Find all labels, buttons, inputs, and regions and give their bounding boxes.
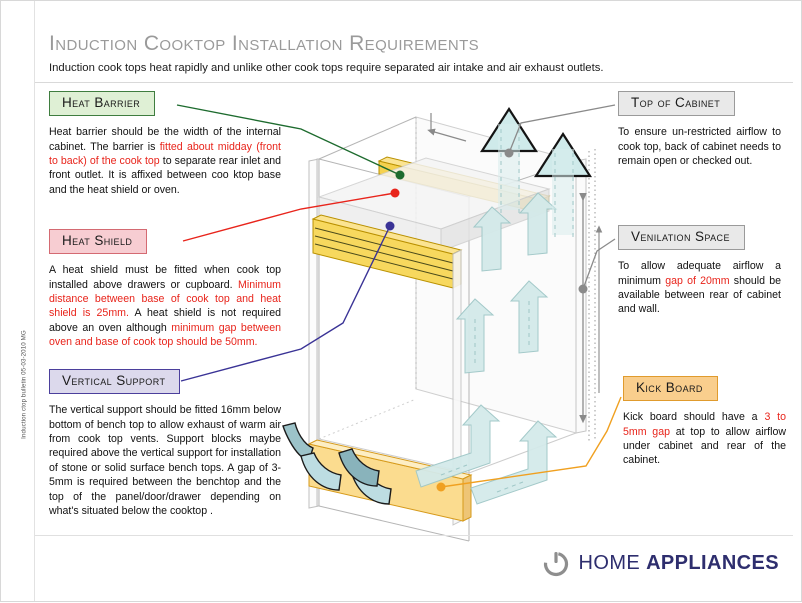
rear-wall-line	[589, 149, 595, 441]
callout-ventilation-space: Venilation Space To allow adequate airfl…	[618, 225, 781, 317]
logo-text-home: HOME	[579, 552, 647, 574]
label-top-of-cabinet[interactable]: Top of Cabinet	[618, 91, 735, 116]
text-vertical-support: The vertical support should be fitted 16…	[49, 403, 281, 518]
callout-kick-board: Kick Board Kick board should have a 3 to…	[623, 376, 786, 468]
label-kick-board[interactable]: Kick Board	[623, 376, 718, 401]
leader-kick-board	[441, 397, 621, 487]
callout-heat-shield: Heat Shield A heat shield must be fitted…	[49, 229, 281, 350]
cabinet-back-wall	[416, 117, 576, 433]
top-dimension-arrow	[431, 113, 466, 141]
footer-divider	[35, 535, 793, 536]
header-divider	[35, 82, 793, 83]
text-top-of-cabinet: To ensure un-restricted airflow to cook …	[618, 125, 781, 168]
text-heat-shield: A heat shield must be fitted when cook t…	[49, 263, 281, 349]
logo-text: HOME APPLIANCES	[579, 552, 779, 575]
callout-vertical-support: Vertical Support The vertical support sh…	[49, 369, 281, 518]
left-rail: Induction ctop bulletin 05-03-2010 MG	[1, 1, 35, 601]
label-heat-barrier[interactable]: Heat Barrier	[49, 91, 155, 116]
top-exhaust-arrows	[482, 109, 590, 237]
callout-heat-barrier: Heat Barrier Heat barrier should be the …	[49, 91, 281, 197]
page-title: Induction Cooktop Installation Requireme…	[49, 32, 479, 56]
page-subtitle: Induction cook tops heat rapidly and unl…	[49, 62, 604, 74]
cooktop-slab	[319, 158, 549, 251]
leader-dot-ventilation-space	[579, 285, 588, 294]
logo-text-appliances: APPLIANCES	[646, 552, 779, 574]
brand-logo: HOME APPLIANCES	[542, 549, 779, 577]
label-heat-shield[interactable]: Heat Shield	[49, 229, 147, 254]
leader-ventilation-space	[583, 239, 615, 289]
page-canvas: Induction ctop bulletin 05-03-2010 MG In…	[0, 0, 802, 602]
text-ventilation-space: To allow adequate airflow a minimum gap …	[618, 259, 781, 317]
callout-top-of-cabinet: Top of Cabinet To ensure un-restricted a…	[618, 91, 781, 168]
leader-dot-vertical-support	[386, 222, 395, 231]
heat-barrier-panel	[379, 157, 549, 213]
power-icon	[542, 549, 570, 577]
leader-dot-heat-barrier	[396, 171, 405, 180]
label-ventilation-space[interactable]: Venilation Space	[618, 225, 745, 250]
heat-shield-panel	[313, 215, 461, 288]
leader-dot-kick-board	[437, 483, 446, 492]
text-heat-barrier: Heat barrier should be the width of the …	[49, 125, 281, 197]
cabinet-right-panel	[576, 159, 586, 433]
text-kick-board: Kick board should have a 3 to 5mm gap at…	[623, 410, 786, 468]
leader-dot-top-of-cabinet	[505, 149, 514, 158]
internal-airflow-arrows	[416, 193, 556, 504]
kickboard-airflow-arrows	[283, 423, 391, 504]
rail-bulletin-text: Induction ctop bulletin 05-03-2010 MG	[21, 310, 28, 460]
airflow-dashed-centerlines	[441, 301, 529, 492]
cabinet-left-panel	[309, 159, 319, 508]
leader-top-of-cabinet	[509, 105, 615, 153]
leader-dot-heat-shield	[391, 189, 400, 198]
label-vertical-support[interactable]: Vertical Support	[49, 369, 180, 394]
kick-board-panel	[309, 440, 471, 521]
cabinet-wireframe	[319, 117, 576, 541]
vertical-support-panel	[453, 250, 461, 525]
